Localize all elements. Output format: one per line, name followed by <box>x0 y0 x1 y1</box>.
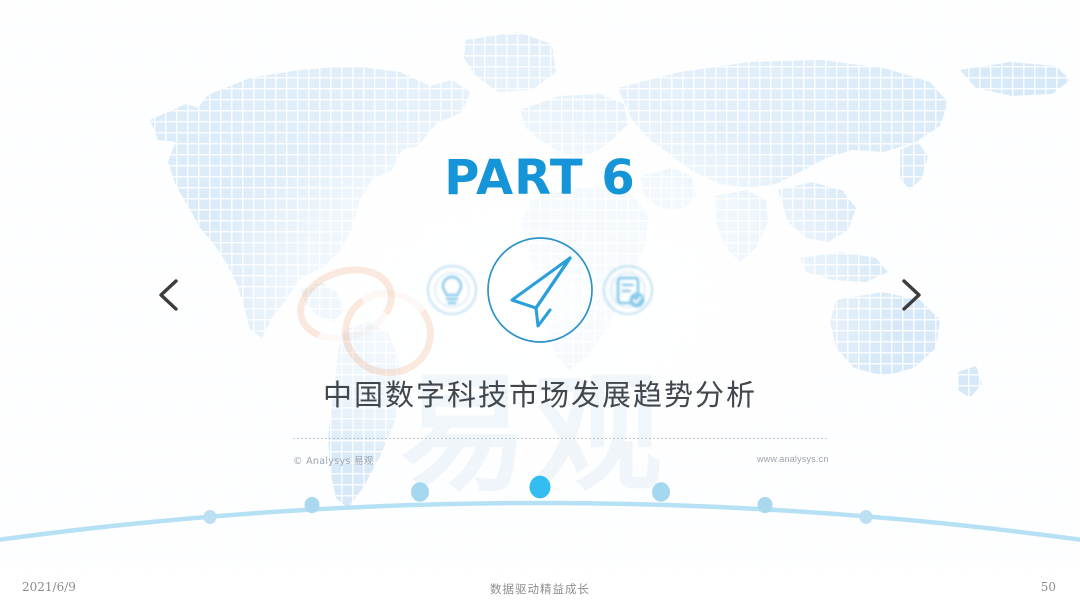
footer-divider <box>293 438 827 439</box>
slide-tagline: 数据驱动精益成长 <box>0 581 1080 597</box>
page-number: 50 <box>1041 580 1056 594</box>
chevron-left-icon <box>154 275 184 315</box>
slide-root: 易观 PART 6 <box>0 0 1080 608</box>
prev-slide-arrow[interactable] <box>146 272 192 318</box>
chevron-right-icon <box>896 275 926 315</box>
copyright-label: © Analysys 易观 <box>293 453 374 467</box>
next-slide-arrow[interactable] <box>888 272 934 318</box>
bottom-bar: 2021/6/9 数据驱动精益成长 50 <box>0 570 1080 608</box>
website-label: www.analysys.cn <box>757 454 829 464</box>
